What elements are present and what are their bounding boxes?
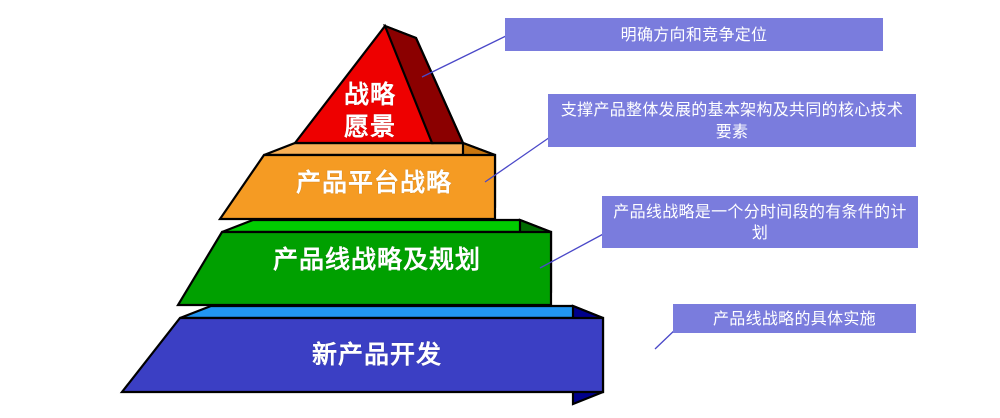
tier-orange-top-face — [264, 143, 495, 155]
tier-strategic-vision[interactable] — [295, 26, 463, 143]
connector-line-vision — [422, 34, 510, 77]
callout-text-npd: 产品线战略的具体实施 — [713, 308, 876, 329]
tier-npd-front-face — [122, 318, 603, 392]
callout-text-platform: 支撑产品整体发展的基本架构及共同的核心技术要素 — [554, 99, 910, 141]
tier-platform-strategy[interactable] — [220, 143, 495, 219]
callout-box-platform[interactable]: 支撑产品整体发展的基本架构及共同的核心技术要素 — [548, 94, 916, 147]
tier-green-top-face — [222, 220, 551, 232]
tier-orange-front-face — [220, 155, 495, 219]
callout-box-vision[interactable]: 明确方向和竞争定位 — [505, 18, 883, 51]
callout-box-product-line[interactable]: 产品线战略是一个分时间段的有条件的计划 — [602, 196, 918, 248]
callout-box-npd[interactable]: 产品线战略的具体实施 — [673, 304, 916, 333]
tier-new-product-development[interactable] — [122, 306, 603, 404]
tier-product-line-strategy[interactable] — [178, 220, 551, 305]
diagram-canvas: 战略 愿景 产品平台战略 产品线战略及规划 新产品开发 明确方向和竞争定位 支撑… — [0, 0, 1000, 418]
callout-text-product-line: 产品线战略是一个分时间段的有条件的计划 — [608, 201, 912, 243]
tier-green-front-face — [178, 232, 551, 305]
tier-npd-top-face — [180, 306, 603, 318]
callout-text-vision: 明确方向和竞争定位 — [621, 24, 768, 45]
